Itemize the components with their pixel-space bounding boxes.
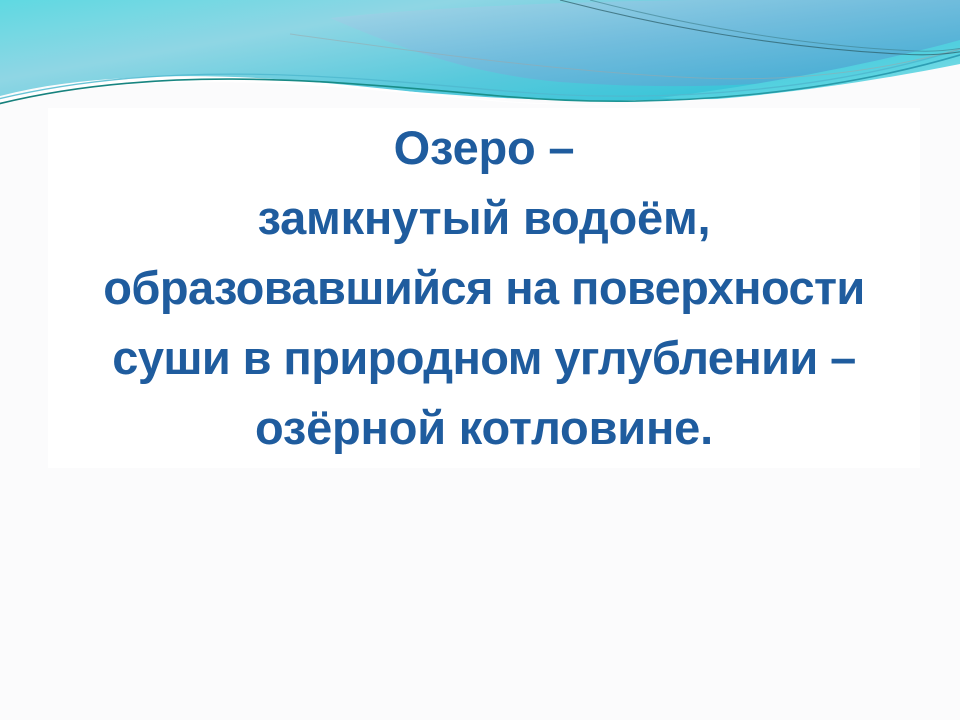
text-line-2: замкнутый водоём, bbox=[48, 183, 920, 253]
wave-line-dark-2 bbox=[590, 0, 960, 51]
wave-line-teal-2 bbox=[0, 46, 960, 101]
wave-band-steel bbox=[330, 0, 960, 86]
text-card: Озеро – замкнутый водоём, образовавшийся… bbox=[48, 108, 920, 468]
wave-line-dark-1 bbox=[560, 0, 960, 55]
wave-highlight-white bbox=[0, 64, 960, 112]
wave-band-cyan bbox=[0, 0, 960, 101]
presentation-slide: Озеро – замкнутый водоём, образовавшийся… bbox=[0, 0, 960, 720]
text-line-4: суши в природном углублении – bbox=[48, 323, 920, 393]
wave-band-cyan-accent bbox=[660, 40, 960, 99]
text-line-3: образовавшийся на поверхности bbox=[48, 253, 920, 323]
wave-line-teal-1 bbox=[0, 52, 960, 106]
wave-graphic bbox=[0, 0, 960, 112]
text-line-1: Озеро – bbox=[48, 113, 920, 183]
wave-decoration bbox=[0, 0, 960, 112]
definition-text-block: Озеро – замкнутый водоём, образовавшийся… bbox=[48, 113, 920, 463]
wave-swoosh-white bbox=[0, 56, 960, 112]
wave-line-grey bbox=[290, 34, 960, 79]
text-line-5: озёрной котловине. bbox=[48, 393, 920, 463]
